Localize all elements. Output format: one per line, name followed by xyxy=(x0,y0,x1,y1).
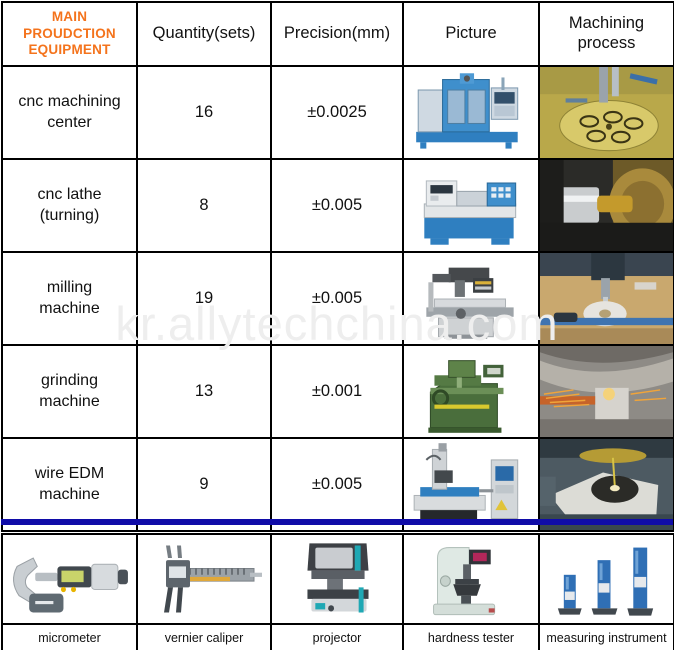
instrument-label-micrometer: micrometer xyxy=(2,624,137,650)
cell-picture xyxy=(403,252,539,345)
wire-edm-machine-photo xyxy=(404,439,538,530)
cell-instrument-image xyxy=(271,534,403,624)
main-equipment-table: MAIN PROUDCTION EQUIPMENT Quantity(sets)… xyxy=(1,1,674,532)
table-row: grinding machine 13 ±0.001 xyxy=(2,345,674,438)
header-line-1: MAIN xyxy=(3,9,136,26)
header-picture-label: Picture xyxy=(404,24,538,44)
instrument-image-row xyxy=(2,534,674,624)
cnc-machining-center-photo xyxy=(404,67,538,158)
cell-equipment-name: cnc machining center xyxy=(2,66,137,159)
table-row: cnc lathe (turning) 8 ±0.005 xyxy=(2,159,674,252)
header-quantity-label: Quantity(sets) xyxy=(138,24,270,44)
equipment-name: cnc lathe (turning) xyxy=(3,185,136,226)
cell-process xyxy=(539,66,674,159)
header-cell-precision: Precision(mm) xyxy=(271,2,403,66)
header-cell-equipment: MAIN PROUDCTION EQUIPMENT xyxy=(2,2,137,66)
cell-quantity: 13 xyxy=(137,345,271,438)
cell-precision: ±0.005 xyxy=(271,252,403,345)
header-line-3: EQUIPMENT xyxy=(3,42,136,59)
cell-equipment-name: cnc lathe (turning) xyxy=(2,159,137,252)
cell-precision: ±0.005 xyxy=(271,438,403,531)
cell-picture xyxy=(403,438,539,531)
table-header-row: MAIN PROUDCTION EQUIPMENT Quantity(sets)… xyxy=(2,2,674,66)
header-cell-picture: Picture xyxy=(403,2,539,66)
table-row: cnc machining center 16 ±0.0025 xyxy=(2,66,674,159)
cnc-lathe-photo xyxy=(404,160,538,251)
cell-process xyxy=(539,159,674,252)
header-cell-quantity: Quantity(sets) xyxy=(137,2,271,66)
cell-precision: ±0.005 xyxy=(271,159,403,252)
header-precision-label: Precision(mm) xyxy=(272,24,402,44)
cell-equipment-name: grinding machine xyxy=(2,345,137,438)
digital-micrometer-photo xyxy=(3,535,136,623)
header-line-2: PROUDCTION xyxy=(3,26,136,43)
header-equipment-label: MAIN PROUDCTION EQUIPMENT xyxy=(3,9,136,60)
wire-edm-process-photo xyxy=(540,439,673,530)
cell-equipment-name: milling machine xyxy=(2,252,137,345)
cell-picture xyxy=(403,66,539,159)
optical-projector-photo xyxy=(272,535,402,623)
cell-instrument-image xyxy=(2,534,137,624)
cell-quantity: 8 xyxy=(137,159,271,252)
instrument-label-hardness-tester: hardness tester xyxy=(403,624,539,650)
equipment-table-page: kr.allytechchina.com MAIN PROUDCTION EQU… xyxy=(0,0,674,650)
cell-instrument-image xyxy=(403,534,539,624)
milling-process-photo xyxy=(540,253,673,344)
height-gauge-photo xyxy=(540,535,673,623)
cell-quantity: 9 xyxy=(137,438,271,531)
grinding-machine-photo xyxy=(404,346,538,437)
cell-process xyxy=(539,345,674,438)
table-row: wire EDM machine 9 ±0.005 xyxy=(2,438,674,531)
cell-picture xyxy=(403,345,539,438)
cnc-lathe-process-photo xyxy=(540,160,673,251)
equipment-name: cnc machining center xyxy=(3,92,136,133)
cell-quantity: 19 xyxy=(137,252,271,345)
measuring-instruments-table: micrometer vernier caliper projector har… xyxy=(1,533,674,650)
milling-machine-photo xyxy=(404,253,538,344)
instrument-label-projector: projector xyxy=(271,624,403,650)
grinding-process-photo xyxy=(540,346,673,437)
vernier-caliper-photo xyxy=(138,535,270,623)
header-process-label: Machining process xyxy=(540,14,673,54)
cell-instrument-image xyxy=(539,534,674,624)
cell-equipment-name: wire EDM machine xyxy=(2,438,137,531)
section-divider-blue xyxy=(1,519,673,525)
table-row: milling machine 19 ±0.005 xyxy=(2,252,674,345)
cell-instrument-image xyxy=(137,534,271,624)
cell-process xyxy=(539,252,674,345)
instrument-label-measuring-instrument: measuring instrument xyxy=(539,624,674,650)
instrument-label-vernier-caliper: vernier caliper xyxy=(137,624,271,650)
cell-picture xyxy=(403,159,539,252)
cell-precision: ±0.001 xyxy=(271,345,403,438)
equipment-name: grinding machine xyxy=(3,371,136,412)
cell-quantity: 16 xyxy=(137,66,271,159)
cell-precision: ±0.0025 xyxy=(271,66,403,159)
equipment-name: milling machine xyxy=(3,278,136,319)
header-cell-process: Machining process xyxy=(539,2,674,66)
cell-process xyxy=(539,438,674,531)
cnc-machining-center-process-photo xyxy=(540,67,673,158)
instrument-label-row: micrometer vernier caliper projector har… xyxy=(2,624,674,650)
hardness-tester-photo xyxy=(404,535,538,623)
equipment-name: wire EDM machine xyxy=(3,464,136,505)
